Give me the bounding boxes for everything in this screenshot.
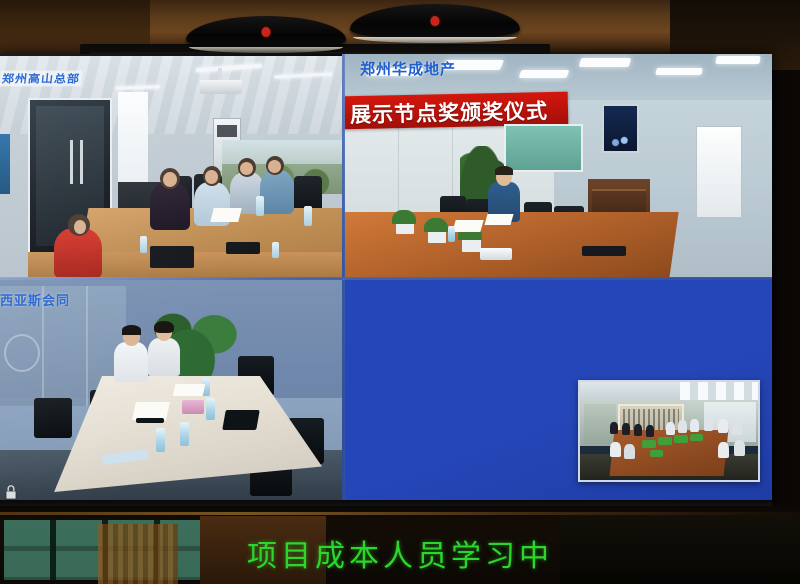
bl-person-1-hair [122,325,141,335]
tr-light-5 [655,68,702,75]
tl-camera-label: 郑州高山总部 [0,71,83,87]
lock-icon [4,484,18,500]
bl-person-1-body [114,342,148,382]
projector-right-logo-icon [431,16,440,26]
bl-bottle-3 [206,398,215,420]
room-trim-edge [0,512,800,515]
tl-laptop-1 [150,246,194,268]
bl-chair-1 [34,398,72,438]
tl-person-1 [150,182,190,230]
tr-whiteboard [696,126,742,218]
tl-door-handle-left [70,140,73,184]
pip-attendee-4 [704,418,713,431]
tr-camera-label: 郑州华成地产 [360,58,456,79]
camera-feed-bottom-right[interactable] [344,280,772,506]
pip-chair-4 [646,425,654,437]
video-wall-inner: 郑州高山总部 展示节点奖颁奖仪式 [0,54,772,506]
tr-papers-1 [452,220,483,232]
bl-person-2-body [148,338,180,376]
tl-laptop-2 [226,242,260,254]
tr-light-4 [579,58,632,67]
pip-green-item-1 [642,440,656,448]
tl-bottle-1 [140,236,147,253]
pip-green-item-3 [674,435,688,443]
tr-plant-leaf-1 [392,210,416,224]
divider-horizontal [0,277,772,280]
tr-person-1-hair [495,166,513,175]
camera-feed-top-right[interactable]: 展示节点奖颁奖仪式 [344,54,772,278]
pip-green-item-2 [658,437,672,445]
pip-attendee-9 [718,442,729,458]
bl-tissue-box [182,400,204,414]
tl-person-3-face [240,162,253,175]
camera-feed-top-left[interactable]: 郑州高山总部 [0,56,342,278]
pip-attendee-6 [732,421,742,435]
tl-wall-poster [0,134,10,194]
bl-bottle-2 [180,422,189,446]
screenshot-stage: 郑州高山总部 展示节点奖颁奖仪式 [0,0,800,584]
tr-light-3 [519,70,570,78]
pip-chair-1 [610,422,618,434]
tl-papers [210,208,241,222]
tr-potted-plant-1 [396,222,414,234]
green-caption: 项目成本人员学习中 [0,531,800,575]
pip-attendee-5 [718,419,728,433]
tr-light-6 [715,56,760,64]
tl-ac-vent [217,125,237,137]
pip-chair-3 [634,424,642,436]
bl-wall-ring [4,334,40,372]
bl-papers-2 [173,384,206,396]
tl-projector-icon [200,80,242,94]
projector-left-logo-icon [262,27,271,37]
tr-wall-picture [602,104,639,153]
pip-attendee-1 [666,422,675,435]
tr-plant-leaf-2 [424,218,448,232]
pip-ceiling [580,382,758,402]
bl-camera-label: 西亚斯会同 [0,290,70,309]
pip-chair-2 [622,423,630,435]
tl-bottle-2 [256,196,264,216]
divider-vertical [342,54,345,506]
pip-attendee-2 [678,420,687,433]
pip-inset[interactable] [578,380,760,482]
bl-notebook [222,410,260,430]
tr-potted-plant-3 [462,238,481,252]
tr-bottle [448,226,455,242]
tl-door-handle-right [80,140,83,184]
tl-person-2-face [205,170,218,184]
tr-laptop [582,246,626,256]
pip-attendee-3 [690,419,699,432]
pip-attendee-7 [610,442,621,457]
tl-person-4-face [268,160,281,173]
tl-person-4 [260,170,294,214]
tl-person-5-face [74,220,86,234]
video-wall[interactable]: 郑州高山总部 展示节点奖颁奖仪式 [0,54,772,506]
pip-green-item-5 [650,450,663,457]
bl-bottle-1 [156,428,165,452]
tl-bottle-3 [304,206,312,226]
tr-green-board [504,124,583,172]
tr-desktop-projector [480,248,512,260]
pip-attendee-10 [734,440,745,456]
bl-person-2-hair [154,321,174,333]
tr-potted-plant-2 [428,230,446,243]
tl-bottle-4 [272,242,279,258]
pip-attendee-8 [624,444,635,459]
bl-pen-tray [136,418,164,423]
camera-feed-bottom-left[interactable]: 西亚斯会同 [0,280,342,506]
pip-green-item-4 [690,434,703,441]
tr-papers-2 [484,214,513,225]
tl-person-1-face [163,172,177,187]
